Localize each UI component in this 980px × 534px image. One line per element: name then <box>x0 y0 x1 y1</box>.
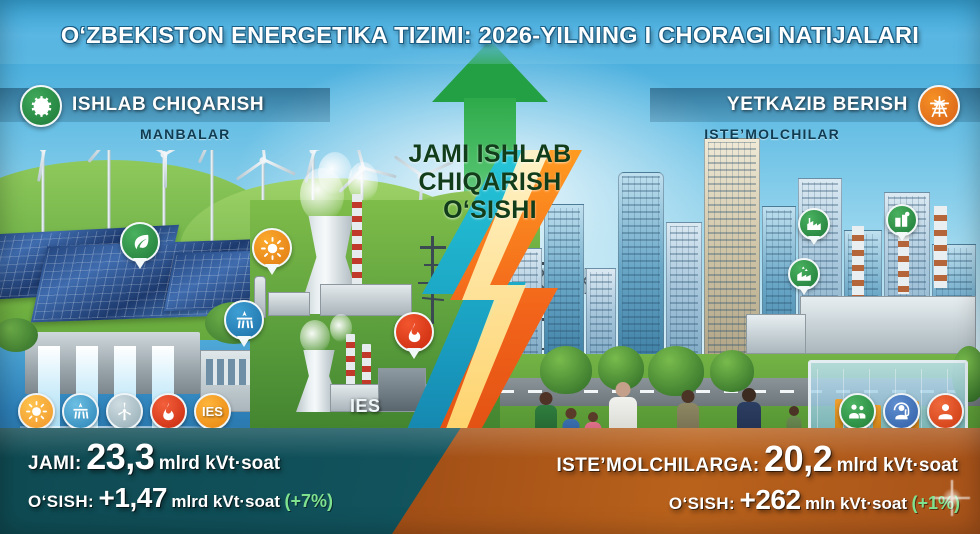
steam-plume <box>318 152 352 194</box>
user-chip[interactable] <box>927 393 964 430</box>
tree <box>648 346 704 396</box>
thermal-chip[interactable]: IES <box>194 393 231 430</box>
wind-turbine-icon <box>114 401 135 422</box>
stats-bar: JAMI: 23,3 mlrd kVt·soat O‘SISH: +1,47 m… <box>0 428 980 534</box>
stat-right-growth: O‘SISH: +262 mln kVt·soat (+1%) <box>669 484 960 516</box>
consumer-chip-row <box>839 393 964 430</box>
gas-chip[interactable] <box>150 393 187 430</box>
wind-chip[interactable] <box>106 393 143 430</box>
wind-turbine <box>28 150 58 244</box>
center-headline-line-2: CHIQARISH <box>360 168 620 196</box>
factory-stack <box>852 226 864 300</box>
stat-left-total-label: JAMI: <box>28 453 82 474</box>
stat-right-total-value: 20,2 <box>764 438 832 479</box>
stat-left-growth: O‘SISH: +1,47 mlrd kVt·soat (+7%) <box>28 482 333 514</box>
gear-badge <box>20 85 62 127</box>
stat-left-growth-label: O‘SISH: <box>28 492 94 511</box>
leaf-icon <box>129 231 152 254</box>
stat-right-growth-value: +262 <box>739 484 800 515</box>
power-tower-badge <box>918 85 960 127</box>
city-tower <box>618 172 664 364</box>
pin-leaf <box>120 222 160 262</box>
factory-icon <box>805 215 823 233</box>
plant-caption: IES <box>350 396 381 417</box>
hydro-icon <box>70 401 91 422</box>
plant-building <box>268 292 310 316</box>
pin-recycle-factory <box>788 258 820 290</box>
delivery-sub-label: ISTE’MOLCHILAR <box>704 126 840 142</box>
infographic-canvas: O‘ZBEKISTON ENERGETIKA TIZIMI: 2026-YILN… <box>0 0 980 534</box>
generation-section-label: ISHLAB CHIQARISH <box>72 94 264 116</box>
city-tower <box>666 222 702 364</box>
people-icon <box>847 401 868 422</box>
stat-right-total: ISTE’MOLCHILARGA: 20,2 mlrd kVt·soat <box>556 438 958 480</box>
generation-sub-label: MANBALAR <box>140 126 230 142</box>
gear-icon <box>29 94 54 119</box>
tree <box>710 350 754 392</box>
power-tower-icon <box>927 94 952 119</box>
factory-building <box>800 296 976 354</box>
stat-right-total-unit: mlrd kVt·soat <box>837 455 958 476</box>
steam-plume <box>300 320 330 354</box>
flame-icon <box>158 401 179 422</box>
factory-stack <box>898 232 909 294</box>
support-agent-icon <box>891 401 912 422</box>
services-chip[interactable] <box>883 393 920 430</box>
sun-icon <box>261 237 284 260</box>
factory-stack <box>934 206 947 288</box>
center-headline: JAMI ISHLAB CHIQARISH O‘SISHI <box>360 140 620 224</box>
eco-city-icon <box>893 211 911 229</box>
thermal-chip-label: IES <box>202 404 223 419</box>
sparkle-icon <box>934 480 970 516</box>
stat-left-total-value: 23,3 <box>86 436 154 477</box>
pin-hydro <box>224 300 264 340</box>
user-icon <box>935 401 956 422</box>
pin-flame <box>394 312 434 352</box>
stat-right-total-label: ISTE’MOLCHILARGA: <box>556 455 759 476</box>
sun-icon <box>26 401 47 422</box>
population-chip[interactable] <box>839 393 876 430</box>
stat-left-total-unit: mlrd kVt·soat <box>159 453 280 474</box>
pin-factory <box>798 208 830 240</box>
stat-left-growth-unit: mlrd kVt·soat <box>171 492 280 511</box>
source-chip-row: IES <box>18 393 231 430</box>
stat-left-total: JAMI: 23,3 mlrd kVt·soat <box>28 436 280 478</box>
solar-chip[interactable] <box>18 393 55 430</box>
page-title: O‘ZBEKISTON ENERGETIKA TIZIMI: 2026-YILN… <box>0 22 980 49</box>
flame-icon <box>403 321 426 344</box>
hydro-icon <box>233 309 256 332</box>
recycle-factory-icon <box>795 265 813 283</box>
hydro-chip[interactable] <box>62 393 99 430</box>
stat-left-growth-value: +1,47 <box>99 482 167 513</box>
delivery-section-label: YETKAZIB BERISH <box>727 94 908 116</box>
stat-left-growth-percent: (+7%) <box>284 491 333 511</box>
stat-right-growth-label: O‘SISH: <box>669 494 735 513</box>
center-headline-line-3: O‘SISHI <box>360 196 620 224</box>
center-headline-line-1: JAMI ISHLAB <box>360 140 620 168</box>
pin-sun <box>252 228 292 268</box>
pin-eco-city <box>886 204 918 236</box>
stat-right-growth-unit: mln kVt·soat <box>805 494 907 513</box>
factory-building <box>746 314 806 354</box>
